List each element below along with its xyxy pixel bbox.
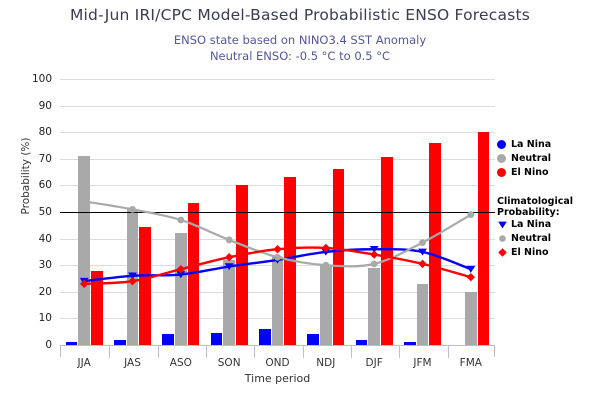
legend-item-la-nina: La Nina xyxy=(497,138,597,151)
legend-item-label: El Nino xyxy=(511,167,549,178)
bar-neutral-jfm xyxy=(417,284,429,345)
legend-marker-icon xyxy=(497,247,508,258)
x-axis-divider xyxy=(448,346,449,358)
clim-legend-item-la-nina: La Nina xyxy=(497,218,597,231)
x-axis-divider xyxy=(206,346,207,358)
chart-title: Mid-Jun IRI/CPC Model-Based Probabilisti… xyxy=(0,6,600,24)
enso-forecast-chart: Mid-Jun IRI/CPC Model-Based Probabilisti… xyxy=(0,0,600,400)
clim-legend-item-el-nino: El Nino xyxy=(497,246,597,259)
clim-legend-items: La NinaNeutralEl Nino xyxy=(497,218,597,259)
bar-neutral-djf xyxy=(368,268,380,345)
y-tick-40: 40 xyxy=(39,233,52,245)
bar-elnino-jja xyxy=(91,271,103,345)
x-axis-label: Time period xyxy=(60,372,495,385)
bar-elnino-son xyxy=(236,185,248,345)
gridline-50 xyxy=(60,212,495,213)
bar-neutral-son xyxy=(223,260,235,345)
forecast-legend: La NinaNeutralEl Nino xyxy=(497,138,597,180)
x-axis-divider xyxy=(109,346,110,358)
legend-item-label: Neutral xyxy=(511,153,551,164)
legend-swatch-icon xyxy=(497,140,506,149)
bar-neutral-ond xyxy=(272,257,284,345)
y-tick-50: 50 xyxy=(39,206,52,218)
x-axis-divider xyxy=(351,346,352,358)
bar-neutral-ndj xyxy=(320,265,332,345)
bar-lanina-ond xyxy=(259,329,271,345)
legend-marker-icon xyxy=(497,233,508,244)
x-tick-aso: ASO xyxy=(170,357,192,369)
legend-item-el-nino: El Nino xyxy=(497,166,597,179)
x-tick-jja: JJA xyxy=(78,357,91,369)
bar-neutral-aso xyxy=(175,233,187,345)
clim-legend-item-label: Neutral xyxy=(511,233,551,244)
y-tick-70: 70 xyxy=(39,153,52,165)
bar-neutral-jja xyxy=(78,156,90,345)
bar-lanina-aso xyxy=(162,334,174,345)
x-tick-jfm: JFM xyxy=(413,357,431,369)
chart-subtitle-line2: Neutral ENSO: -0.5 °C to 0.5 °C xyxy=(0,49,600,63)
x-tick-djf: DJF xyxy=(366,357,383,369)
x-axis-divider xyxy=(399,346,400,358)
y-axis-ticks: 0102030405060708090100 xyxy=(0,79,56,345)
y-tick-100: 100 xyxy=(32,73,52,85)
plot-area xyxy=(60,79,495,345)
bar-elnino-ndj xyxy=(333,169,345,345)
y-tick-80: 80 xyxy=(39,126,52,138)
x-tick-ndj: NDJ xyxy=(316,357,335,369)
y-tick-0: 0 xyxy=(45,339,52,351)
bar-lanina-son xyxy=(211,333,223,345)
bar-elnino-aso xyxy=(188,203,200,345)
bar-neutral-jas xyxy=(127,209,139,345)
legend-item-label: La Nina xyxy=(511,139,551,150)
y-tick-10: 10 xyxy=(39,312,52,324)
bar-elnino-jfm xyxy=(429,143,441,345)
x-axis-divider xyxy=(303,346,304,358)
bar-elnino-djf xyxy=(381,157,393,345)
x-tick-jas: JAS xyxy=(124,357,141,369)
x-tick-ond: OND xyxy=(265,357,289,369)
clim-legend-heading-line1: Climatological xyxy=(497,196,597,207)
x-tick-fma: FMA xyxy=(460,357,482,369)
legend-swatch-icon xyxy=(497,154,506,163)
y-tick-60: 60 xyxy=(39,179,52,191)
bar-elnino-jas xyxy=(139,227,151,345)
x-axis-divider xyxy=(158,346,159,358)
legend-swatch-icon xyxy=(497,168,506,177)
clim-legend-item-label: El Nino xyxy=(511,247,549,258)
x-axis-box xyxy=(60,345,495,357)
chart-subtitle-line1: ENSO state based on NINO3.4 SST Anomaly xyxy=(0,33,600,47)
y-tick-30: 30 xyxy=(39,259,52,271)
legend-item-neutral: Neutral xyxy=(497,152,597,165)
y-tick-90: 90 xyxy=(39,100,52,112)
clim-legend-item-label: La Nina xyxy=(511,219,551,230)
bar-lanina-ndj xyxy=(307,334,319,345)
bar-elnino-ond xyxy=(284,177,296,345)
clim-legend-heading-line2: Probability: xyxy=(497,207,597,218)
x-axis-divider xyxy=(254,346,255,358)
bar-elnino-fma xyxy=(478,132,490,345)
y-tick-20: 20 xyxy=(39,286,52,298)
bar-neutral-fma xyxy=(465,292,477,345)
legend-marker-icon xyxy=(497,219,508,230)
climatological-legend: Climatological Probability: La NinaNeutr… xyxy=(497,196,597,260)
clim-legend-item-neutral: Neutral xyxy=(497,232,597,245)
x-tick-son: SON xyxy=(218,357,241,369)
